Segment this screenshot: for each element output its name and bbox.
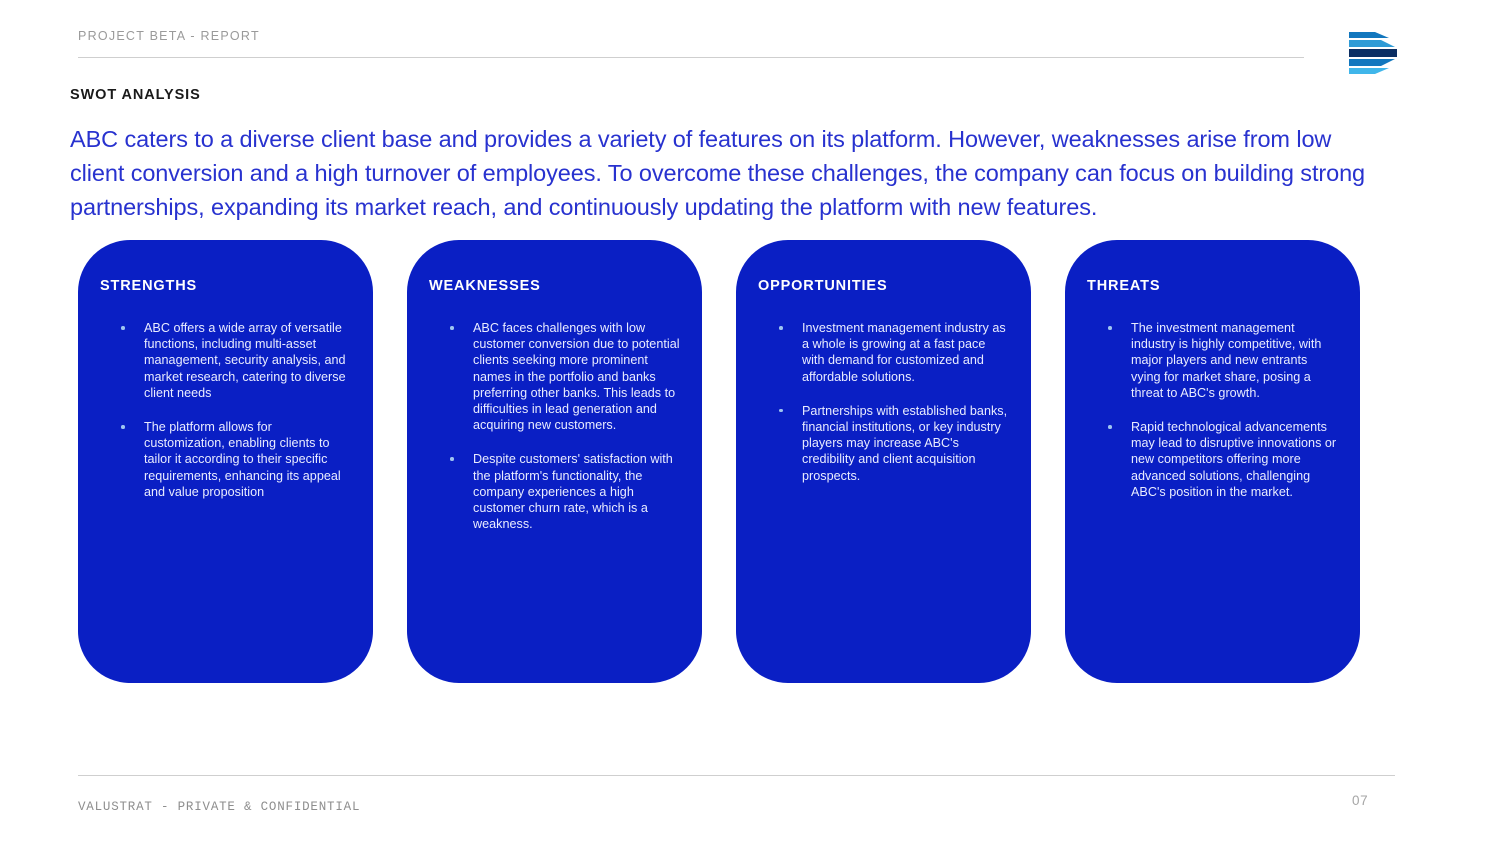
list-item: Investment management industry as a whol…	[758, 320, 1009, 385]
list-item: The platform allows for customization, e…	[100, 419, 351, 500]
list-item: The investment management industry is hi…	[1087, 320, 1338, 401]
list-item-text: Partnerships with established banks, fin…	[802, 404, 1007, 483]
swot-card-threats: THREATS The investment management indust…	[1065, 240, 1360, 683]
footer-divider	[78, 775, 1395, 776]
bullet-dot-icon	[1108, 425, 1112, 429]
swot-card-grid: STRENGTHS ABC offers a wide array of ver…	[78, 240, 1353, 683]
list-item-text: The investment management industry is hi…	[1131, 321, 1321, 400]
bullet-dot-icon	[121, 425, 125, 429]
list-item: ABC faces challenges with low customer c…	[429, 320, 680, 433]
header-eyebrow: PROJECT BETA - REPORT	[78, 29, 260, 43]
list-item-text: ABC offers a wide array of versatile fun…	[144, 321, 346, 400]
intro-paragraph: ABC caters to a diverse client base and …	[70, 122, 1370, 224]
swot-bullet-list: Investment management industry as a whol…	[758, 320, 1009, 484]
header-divider	[78, 57, 1304, 58]
swot-card-title: STRENGTHS	[100, 278, 351, 294]
list-item-text: Despite customers' satisfaction with the…	[473, 452, 673, 531]
bullet-dot-icon	[779, 409, 783, 413]
list-item-text: The platform allows for customization, e…	[144, 420, 341, 499]
list-item: ABC offers a wide array of versatile fun…	[100, 320, 351, 401]
swot-card-title: OPPORTUNITIES	[758, 278, 1009, 294]
list-item: Partnerships with established banks, fin…	[758, 403, 1009, 484]
bullet-dot-icon	[121, 326, 125, 330]
swot-bullet-list: ABC faces challenges with low customer c…	[429, 320, 680, 532]
list-item: Despite customers' satisfaction with the…	[429, 451, 680, 532]
bullet-dot-icon	[450, 457, 454, 461]
bullet-dot-icon	[1108, 326, 1112, 330]
page-title: SWOT ANALYSIS	[70, 87, 201, 103]
list-item-text: Investment management industry as a whol…	[802, 321, 1006, 384]
page-number: 07	[1352, 793, 1368, 808]
list-item-text: Rapid technological advancements may lea…	[1131, 420, 1336, 499]
bullet-dot-icon	[779, 326, 783, 330]
list-item-text: ABC faces challenges with low customer c…	[473, 321, 680, 432]
chevron-bars-logo-icon	[1345, 30, 1401, 76]
swot-bullet-list: The investment management industry is hi…	[1087, 320, 1338, 500]
swot-card-strengths: STRENGTHS ABC offers a wide array of ver…	[78, 240, 373, 683]
list-item: Rapid technological advancements may lea…	[1087, 419, 1338, 500]
swot-bullet-list: ABC offers a wide array of versatile fun…	[100, 320, 351, 500]
swot-card-title: WEAKNESSES	[429, 278, 680, 294]
swot-card-title: THREATS	[1087, 278, 1338, 294]
footer-confidentiality-notice: VALUSTRAT - PRIVATE & CONFIDENTIAL	[78, 800, 360, 814]
swot-card-opportunities: OPPORTUNITIES Investment management indu…	[736, 240, 1031, 683]
swot-card-weaknesses: WEAKNESSES ABC faces challenges with low…	[407, 240, 702, 683]
bullet-dot-icon	[450, 326, 454, 330]
